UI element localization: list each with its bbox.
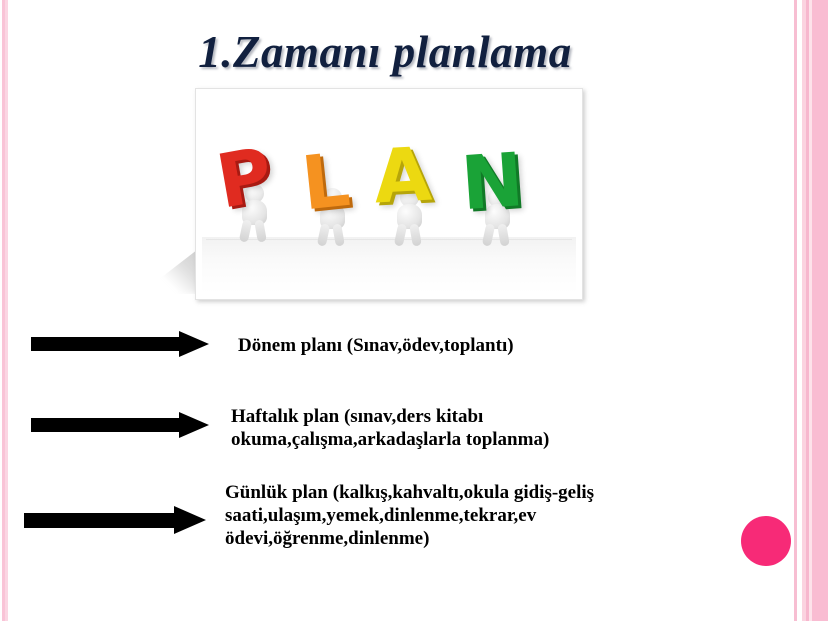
arrow-head — [174, 506, 206, 534]
bullet-text-haftalik-plan: Haftalık plan (sınav,ders kitabı okuma,ç… — [231, 405, 711, 451]
plan-letter-n: N — [459, 143, 526, 221]
bullet-text-donem-plani: Dönem planı (Sınav,ödev,toplantı) — [238, 334, 738, 357]
arrow-icon-2 — [31, 412, 209, 438]
figure-leg — [497, 223, 510, 246]
arrow-icon-3 — [24, 506, 206, 534]
plan-picture: P L A N — [195, 88, 583, 300]
figure-leg — [482, 223, 495, 246]
slide-canvas: 1.Zamanı planlama — [0, 0, 828, 621]
figure-leg — [317, 223, 330, 246]
arrow-icon-1 — [31, 331, 209, 357]
plan-picture-floor — [202, 237, 576, 293]
bullet-text-gunluk-plan: Günlük plan (kalkış,kahvaltı,okula gidiş… — [225, 481, 725, 550]
arrow-head — [179, 412, 209, 438]
arrow-shaft — [31, 337, 179, 351]
arrow-head — [179, 331, 209, 357]
arrow-shaft — [24, 513, 174, 528]
figure-leg — [332, 223, 345, 246]
decoration-stripe-left-inner — [5, 0, 8, 621]
plan-letter-l: L — [298, 143, 353, 222]
plan-picture-stage: P L A N — [196, 89, 582, 299]
figure-leg — [409, 223, 422, 246]
figure-leg — [254, 219, 267, 242]
arrow-shaft — [31, 418, 179, 432]
figure-leg — [394, 223, 407, 246]
plan-letter-a: A — [372, 138, 433, 215]
accent-circle — [741, 516, 791, 566]
slide-title: 1.Zamanı planlama — [0, 26, 770, 78]
decoration-stripe-right-6 — [812, 0, 828, 621]
plan-letter-p: P — [212, 137, 278, 219]
